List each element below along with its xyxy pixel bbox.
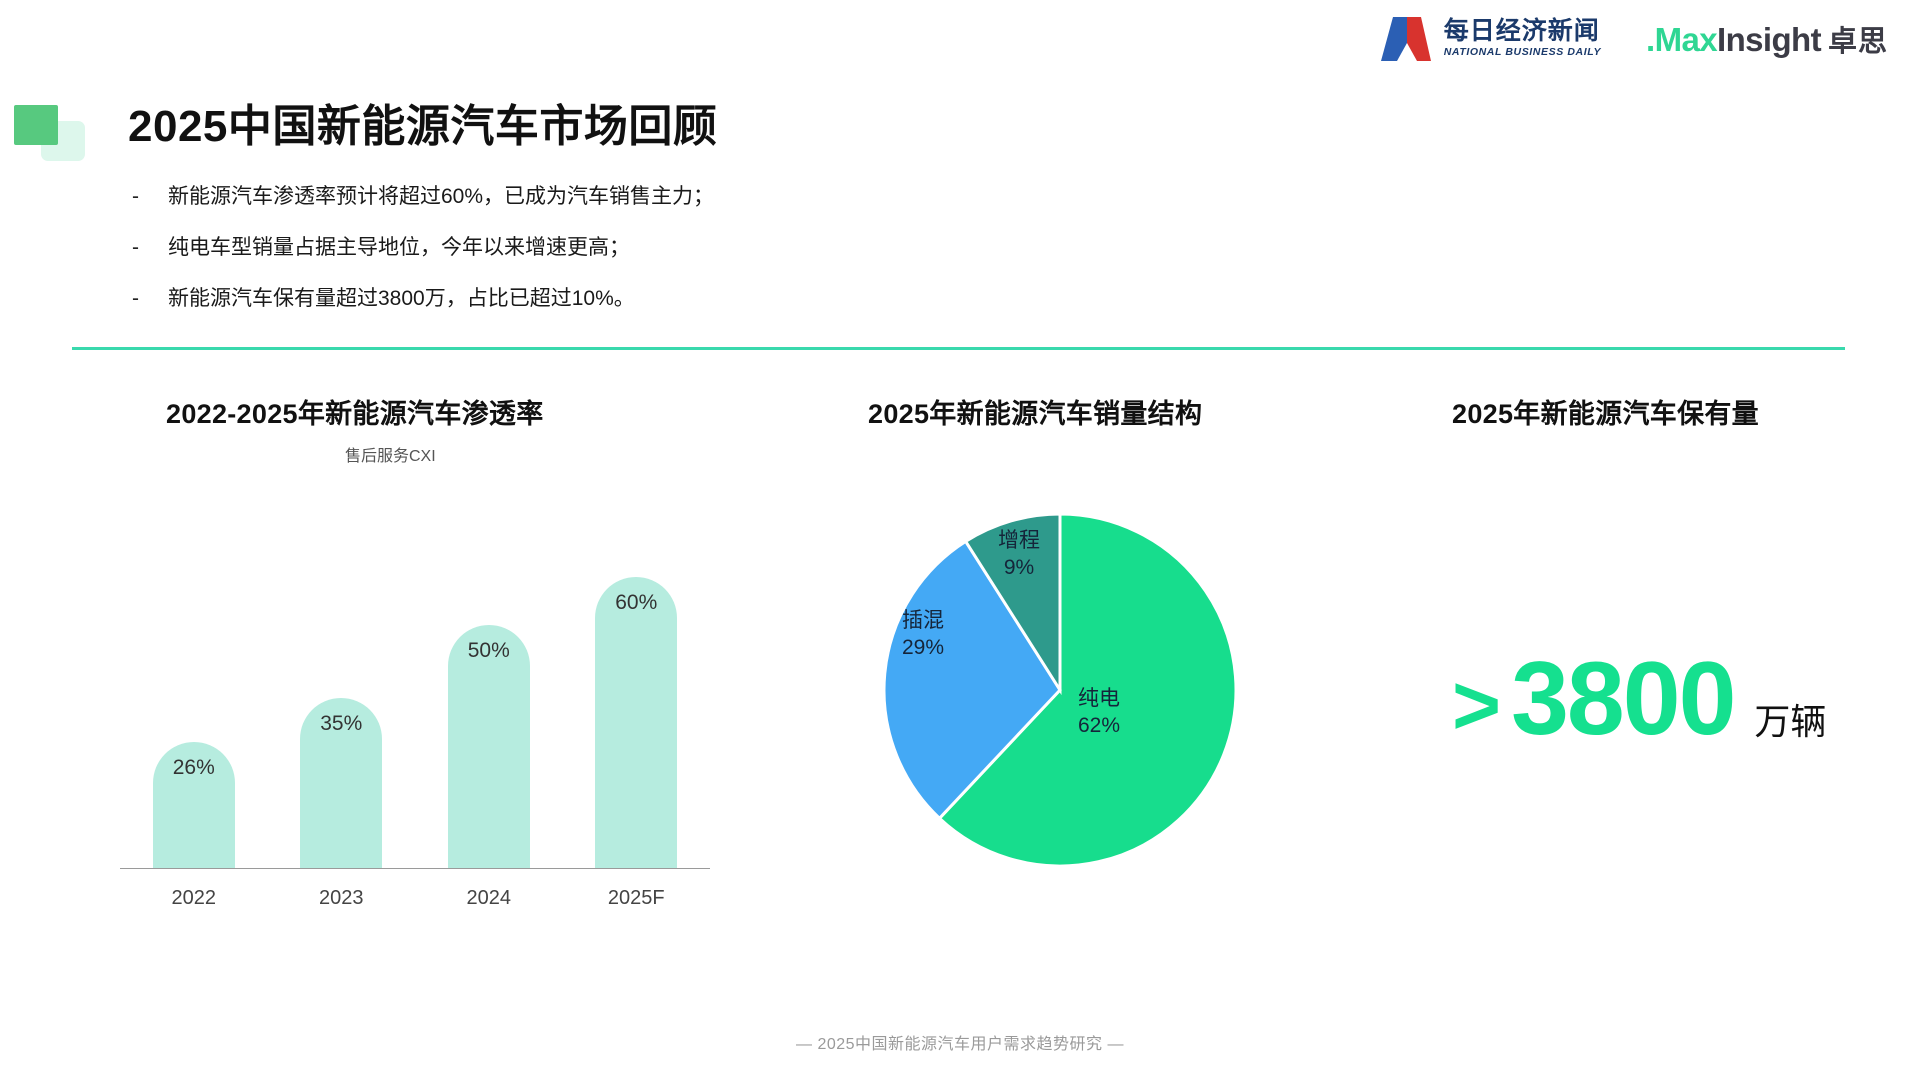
bar-cell: 60%: [563, 528, 711, 868]
pie-slice-value: 9%: [998, 555, 1040, 582]
maxinsight-logo-wordmark: .MaxInsight: [1646, 21, 1821, 59]
logo-divider: [1623, 21, 1624, 57]
bar-chart-axis-line: [120, 868, 710, 870]
chart2-title: 2025年新能源汽车销量结构: [868, 392, 1202, 431]
maxinsight-cn: 卓思: [1828, 18, 1888, 60]
list-item: - 新能源汽车渗透率预计将超过60%，已成为汽车销售主力；: [132, 182, 1332, 212]
header-logo-bar: 每日经济新闻 NATIONAL BUSINESS DAILY .MaxInsig…: [1377, 8, 1888, 70]
nbd-logo-en: NATIONAL BUSINESS DAILY: [1444, 46, 1601, 60]
bar-cell: 50%: [415, 528, 563, 868]
title-decoration: [14, 105, 86, 161]
chart1-subtitle: 售后服务CXI: [345, 442, 436, 466]
category-label: 2023: [268, 887, 416, 910]
bar: 26%: [153, 742, 235, 868]
bar: 50%: [448, 625, 530, 868]
maxinsight-max: Max: [1655, 21, 1717, 58]
pie-slice-name: 增程: [998, 528, 1040, 555]
bullet-marker: -: [132, 284, 168, 314]
chart1-title: 2022-2025年新能源汽车渗透率: [166, 392, 544, 431]
maxinsight-insight: Insight: [1717, 21, 1821, 58]
page-title: 2025中国新能源汽车市场回顾: [128, 90, 717, 154]
chart3-title: 2025年新能源汽车保有量: [1452, 392, 1759, 431]
pie-slice-value: 29%: [902, 635, 944, 662]
decoration-square-green: [14, 105, 58, 145]
bar-value-label: 26%: [153, 756, 235, 780]
sales-structure-pie-chart: 纯电 62% 插混 29% 增程 9%: [880, 510, 1240, 870]
nbd-logo: 每日经济新闻 NATIONAL BUSINESS DAILY: [1377, 13, 1601, 65]
ev-ownership-stat: > 3800 万辆: [1452, 640, 1826, 759]
slide-footer: — 2025中国新能源汽车用户需求趋势研究 —: [0, 1030, 1920, 1054]
bar: 35%: [300, 698, 382, 868]
pie-slice-name: 插混: [902, 608, 944, 635]
bar-value-label: 35%: [300, 712, 382, 736]
list-item: - 纯电车型销量占据主导地位，今年以来增速更高；: [132, 233, 1332, 263]
bar-cell: 26%: [120, 528, 268, 868]
bullet-text: 新能源汽车渗透率预计将超过60%，已成为汽车销售主力；: [168, 182, 714, 212]
pie-label-erev: 增程 9%: [998, 528, 1040, 582]
pie-slice-value: 62%: [1078, 713, 1120, 740]
bar-chart-category-axis: 2022 2023 2024 2025F: [120, 887, 710, 910]
nbd-logo-text: 每日经济新闻 NATIONAL BUSINESS DAILY: [1444, 19, 1601, 60]
section-divider: [72, 347, 1845, 350]
maxinsight-logo: .MaxInsight 卓思: [1646, 18, 1888, 60]
bullet-text: 新能源汽车保有量超过3800万，占比已超过10%。: [168, 284, 635, 314]
bar-value-label: 50%: [448, 639, 530, 663]
pie-label-phev: 插混 29%: [902, 608, 944, 662]
penetration-bar-chart: 26% 35% 50% 60% 2022 2023: [120, 500, 710, 920]
bullet-marker: -: [132, 182, 168, 212]
list-item: - 新能源汽车保有量超过3800万，占比已超过10%。: [132, 284, 1332, 314]
slide-root: 每日经济新闻 NATIONAL BUSINESS DAILY .MaxInsig…: [0, 0, 1920, 1080]
category-label: 2022: [120, 887, 268, 910]
pie-slice-name: 纯电: [1078, 686, 1120, 713]
bullet-marker: -: [132, 233, 168, 263]
greater-than-symbol: >: [1452, 657, 1499, 754]
bar-group: 26% 35% 50% 60%: [120, 528, 710, 868]
maxinsight-dot: .: [1646, 21, 1655, 58]
bar-cell: 35%: [268, 528, 416, 868]
category-label: 2024: [415, 887, 563, 910]
bullet-text: 纯电车型销量占据主导地位，今年以来增速更高；: [168, 233, 630, 263]
stat-value: 3800: [1511, 640, 1734, 759]
bar-value-label: 60%: [595, 591, 677, 615]
bullet-list: - 新能源汽车渗透率预计将超过60%，已成为汽车销售主力； - 纯电车型销量占据…: [132, 182, 1332, 335]
nbd-logo-cn: 每日经济新闻: [1444, 19, 1601, 45]
nbd-m-mark-icon: [1377, 13, 1435, 65]
pie-svg: [880, 510, 1240, 870]
bar: 60%: [595, 577, 677, 868]
pie-label-pure-ev: 纯电 62%: [1078, 686, 1120, 740]
category-label: 2025F: [563, 887, 711, 910]
stat-unit: 万辆: [1754, 693, 1826, 745]
